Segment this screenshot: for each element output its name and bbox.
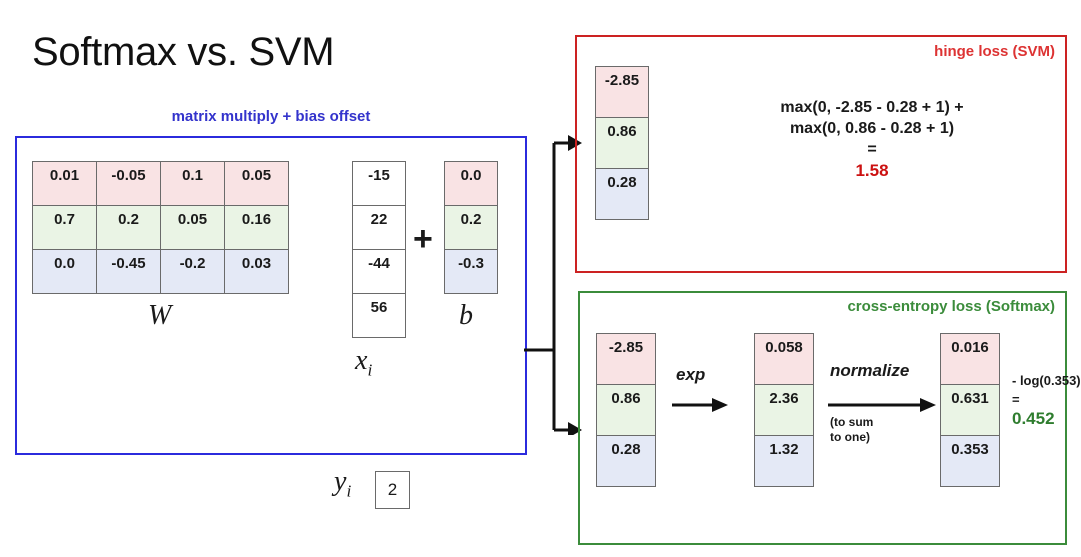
w-cell: 0.01	[32, 161, 97, 206]
cross-entropy-result: - log(0.353) = 0.452	[1012, 371, 1081, 428]
softmax-score-cell: -2.85	[596, 333, 656, 385]
w-cell: 0.0	[32, 249, 97, 294]
hinge-eq-line-1: max(0, -2.85 - 0.28 + 1) +	[687, 97, 1057, 118]
x-cell: 56	[352, 293, 406, 338]
hinge-loss-equation: max(0, -2.85 - 0.28 + 1) + max(0, 0.86 -…	[687, 97, 1057, 181]
softmax-probabilities-vector: 0.016 0.631 0.353	[940, 333, 1000, 489]
softmax-unnormalized-cell: 1.32	[754, 435, 814, 487]
softmax-probability-cell: 0.353	[940, 435, 1000, 487]
normalize-sub-line-2: to one)	[830, 430, 873, 445]
softmax-probability-cell: 0.631	[940, 384, 1000, 436]
plus-operator: +	[413, 222, 433, 256]
w-matrix-label: W	[148, 300, 171, 332]
w-cell: 0.7	[32, 205, 97, 250]
exp-operation-label: exp	[676, 365, 705, 385]
page-title: Softmax vs. SVM	[32, 28, 334, 76]
x-cell: -15	[352, 161, 406, 206]
w-cell: 0.05	[160, 205, 225, 250]
y-label: yi	[334, 466, 351, 502]
softmax-score-cell: 0.28	[596, 435, 656, 487]
normalize-operation-label: normalize	[830, 361, 909, 381]
matrix-multiply-caption: matrix multiply + bias offset	[15, 108, 527, 125]
softmax-unnormalized-vector: 0.058 2.36 1.32	[754, 333, 814, 489]
softmax-scores-vector: -2.85 0.86 0.28	[596, 333, 656, 489]
cross-entropy-total: 0.452	[1012, 409, 1081, 428]
w-cell: -0.45	[96, 249, 161, 294]
hinge-eq-line-2: max(0, 0.86 - 0.28 + 1)	[687, 118, 1057, 139]
b-cell: 0.2	[444, 205, 498, 250]
hinge-loss-total: 1.58	[687, 160, 1057, 181]
slide-canvas: Softmax vs. SVM matrix multiply + bias o…	[0, 0, 1081, 557]
x-symbol: x	[355, 345, 367, 376]
hinge-loss-title: hinge loss (SVM)	[934, 43, 1055, 60]
y-value-box: 2	[375, 471, 410, 509]
x-vector-label: xi	[355, 345, 372, 381]
softmax-score-cell: 0.86	[596, 384, 656, 436]
x-vector: -15 22 -44 56	[352, 161, 406, 341]
w-cell: -0.05	[96, 161, 161, 206]
hinge-loss-panel: hinge loss (SVM) -2.85 0.86 0.28 max(0, …	[575, 35, 1067, 273]
w-cell: 0.16	[224, 205, 289, 250]
y-symbol: y	[334, 466, 346, 497]
y-subscript: i	[346, 482, 351, 501]
x-cell: 22	[352, 205, 406, 250]
softmax-unnormalized-cell: 2.36	[754, 384, 814, 436]
hinge-scores-vector: -2.85 0.86 0.28	[595, 66, 649, 222]
cross-entropy-equals: =	[1012, 390, 1081, 409]
w-cell: 0.2	[96, 205, 161, 250]
cross-entropy-expression: - log(0.353)	[1012, 371, 1081, 390]
b-vector-label: b	[459, 300, 473, 332]
x-cell: -44	[352, 249, 406, 294]
w-cell: 0.1	[160, 161, 225, 206]
cross-entropy-title: cross-entropy loss (Softmax)	[847, 298, 1055, 315]
b-symbol: b	[459, 300, 473, 331]
exp-arrow-icon	[672, 397, 728, 413]
normalize-arrow-icon	[828, 397, 936, 413]
softmax-unnormalized-cell: 0.058	[754, 333, 814, 385]
normalize-sub-note: (to sum to one)	[830, 415, 873, 445]
x-subscript: i	[367, 361, 372, 380]
w-cell: -0.2	[160, 249, 225, 294]
softmax-probability-cell: 0.016	[940, 333, 1000, 385]
w-symbol: W	[148, 300, 171, 331]
normalize-sub-line-1: (to sum	[830, 415, 873, 430]
b-cell: -0.3	[444, 249, 498, 294]
hinge-score-cell: 0.28	[595, 168, 649, 220]
hinge-eq-equals: =	[687, 139, 1057, 160]
w-matrix: 0.01 -0.05 0.1 0.05 0.7 0.2 0.05 0.16 0.…	[32, 161, 291, 295]
b-cell: 0.0	[444, 161, 498, 206]
hinge-score-cell: -2.85	[595, 66, 649, 118]
cross-entropy-panel: cross-entropy loss (Softmax) -2.85 0.86 …	[578, 291, 1067, 545]
w-cell: 0.05	[224, 161, 289, 206]
w-cell: 0.03	[224, 249, 289, 294]
hinge-score-cell: 0.86	[595, 117, 649, 169]
b-vector: 0.0 0.2 -0.3	[444, 161, 498, 295]
